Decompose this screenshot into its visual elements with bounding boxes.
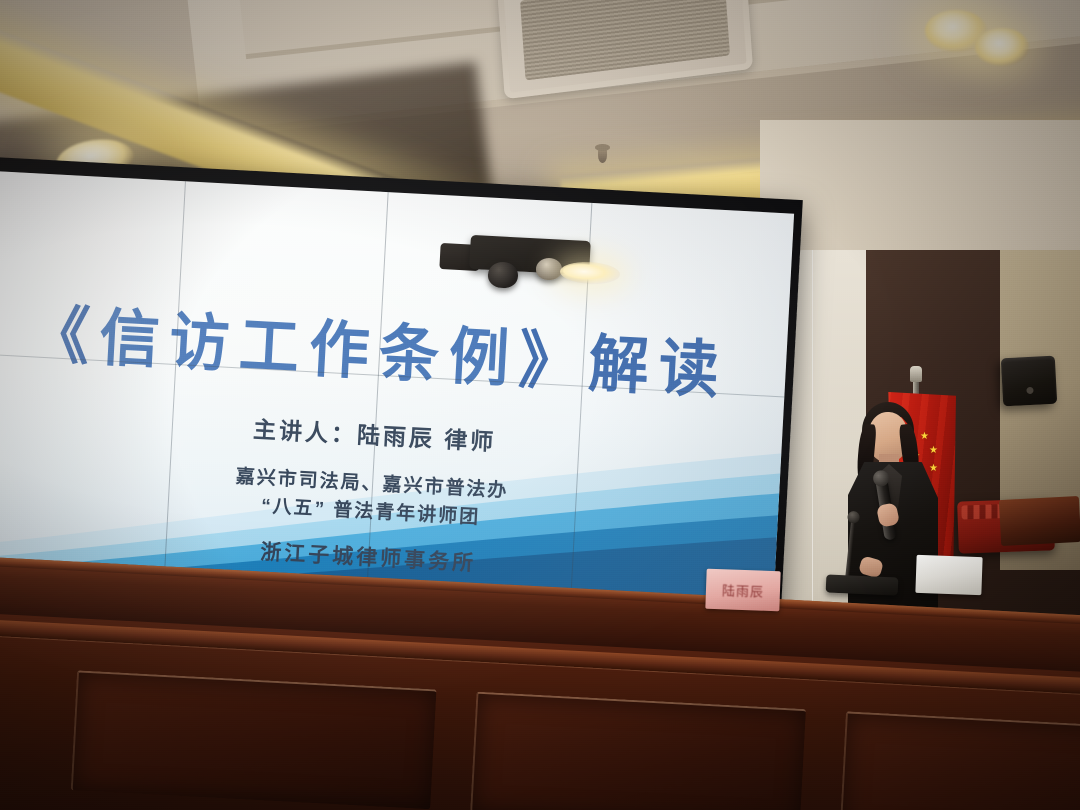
microphone-base-unit <box>826 574 899 595</box>
downlight-icon-3 <box>975 28 1029 66</box>
name-card-blank <box>915 555 982 595</box>
camera-icon-2 <box>536 258 562 280</box>
name-card: 陆雨辰 <box>705 569 780 612</box>
table-front-panel <box>71 670 437 809</box>
vent-grille <box>520 0 730 81</box>
slide-title-main: 信访工作条例 <box>98 303 521 395</box>
name-card-face: 陆雨辰 <box>705 569 780 612</box>
slide-title-close-bracket: 》 <box>517 325 591 398</box>
slide-title-open-bracket: 《 <box>28 299 102 372</box>
wood-ledge <box>999 496 1080 546</box>
table-front-panel <box>840 711 1080 810</box>
name-card-text: 陆雨辰 <box>706 580 781 602</box>
camera-icon <box>487 261 518 289</box>
slide-title-suffix: 解读 <box>587 329 731 406</box>
fire-sprinkler-icon-1 <box>598 148 607 163</box>
name-card-text-blank <box>916 566 982 568</box>
table-front-panel <box>470 692 806 810</box>
name-card-face-blank <box>915 555 982 595</box>
photo-scene: 《信访工作条例》解读 主讲人：陆雨辰 律师 嘉兴市司法局、嘉兴市普法办 “八五”… <box>0 0 1080 810</box>
wall-speaker-icon <box>1001 356 1057 407</box>
